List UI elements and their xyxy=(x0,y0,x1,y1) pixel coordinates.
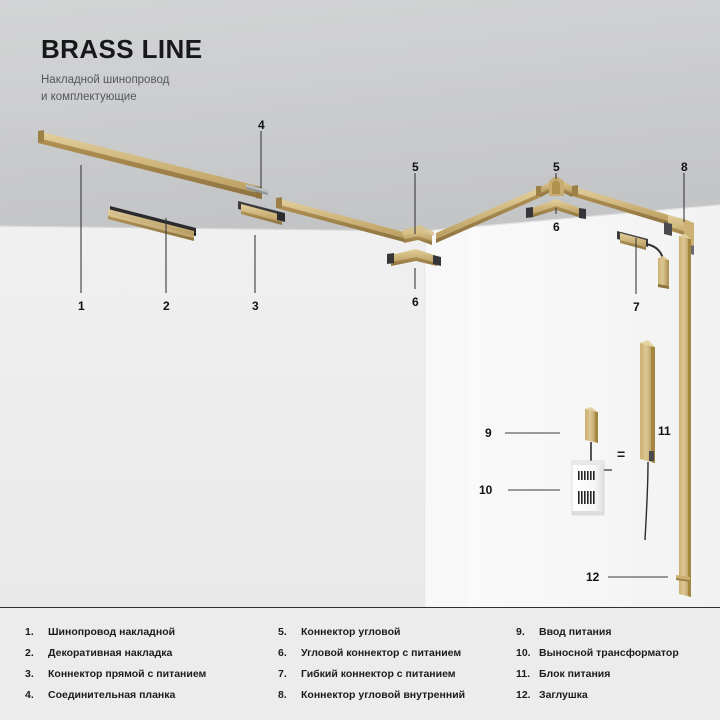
callout-number-1: 1 xyxy=(78,300,85,312)
legend-item-label: Блок питания xyxy=(539,668,716,682)
legend-item-label: Гибкий коннектор с питанием xyxy=(301,668,516,682)
callout-number-2: 2 xyxy=(163,300,170,312)
callout-number-11: 11 xyxy=(658,425,671,437)
legend-item-number: 4. xyxy=(25,689,48,703)
legend-item: 2.Декоративная накладка xyxy=(25,647,275,661)
legend-item-label: Выносной трансформатор xyxy=(539,647,716,661)
equals-symbol: = xyxy=(617,447,625,461)
header-block: BRASS LINE Накладной шинопровод и компле… xyxy=(41,36,202,105)
legend-item-number: 9. xyxy=(516,626,539,640)
legend-column-1: 1.Шинопровод накладной2.Декоративная нак… xyxy=(25,626,275,711)
legend-item-number: 5. xyxy=(278,626,301,640)
callout-number-10: 10 xyxy=(479,484,492,496)
callout-number-12: 12 xyxy=(586,571,599,583)
product-diagram-page: BRASS LINE Накладной шинопровод и компле… xyxy=(0,0,720,720)
legend-item-label: Коннектор угловой внутренний xyxy=(301,689,516,703)
legend-item-label: Угловой коннектор с питанием xyxy=(301,647,516,661)
legend-column-3: 9.Ввод питания10.Выносной трансформатор1… xyxy=(516,626,716,711)
callout-number-9: 9 xyxy=(485,427,492,439)
legend-item-number: 10. xyxy=(516,647,539,661)
legend-item: 1.Шинопровод накладной xyxy=(25,626,275,640)
legend-item: 4.Соединительная планка xyxy=(25,689,275,703)
legend-item: 8.Коннектор угловой внутренний xyxy=(278,689,516,703)
callout-number-5a: 5 xyxy=(412,161,419,173)
legend-item-number: 12. xyxy=(516,689,539,703)
legend-item-label: Шинопровод накладной xyxy=(48,626,275,640)
legend-item: 10.Выносной трансформатор xyxy=(516,647,716,661)
legend-item-label: Заглушка xyxy=(539,689,716,703)
legend-item: 3.Коннектор прямой с питанием xyxy=(25,668,275,682)
page-subtitle: Накладной шинопровод и комплектующие xyxy=(41,72,202,105)
legend-item-number: 3. xyxy=(25,668,48,682)
callout-number-5b: 5 xyxy=(553,161,560,173)
legend-item: 9.Ввод питания xyxy=(516,626,716,640)
legend-item-label: Коннектор угловой xyxy=(301,626,516,640)
track-profile-vertical-wall xyxy=(679,234,691,597)
legend-item-label: Декоративная накладка xyxy=(48,647,275,661)
legend-item: 6.Угловой коннектор с питанием xyxy=(278,647,516,661)
legend-item-number: 11. xyxy=(516,668,539,682)
legend-item-number: 8. xyxy=(278,689,301,703)
legend-panel: 1.Шинопровод накладной2.Декоративная нак… xyxy=(0,607,720,720)
callout-number-6a: 6 xyxy=(412,296,419,308)
legend-column-2: 5.Коннектор угловой6.Угловой коннектор с… xyxy=(278,626,516,711)
callout-number-7: 7 xyxy=(633,301,640,313)
legend-item-number: 2. xyxy=(25,647,48,661)
legend-item: 12.Заглушка xyxy=(516,689,716,703)
callout-number-6b: 6 xyxy=(553,221,560,233)
legend-item-number: 1. xyxy=(25,626,48,640)
legend-item-label: Ввод питания xyxy=(539,626,716,640)
legend-item: 11.Блок питания xyxy=(516,668,716,682)
legend-item-number: 7. xyxy=(278,668,301,682)
legend-item: 7.Гибкий коннектор с питанием xyxy=(278,668,516,682)
callout-number-4: 4 xyxy=(258,119,265,131)
legend-item-label: Соединительная планка xyxy=(48,689,275,703)
legend-item: 5.Коннектор угловой xyxy=(278,626,516,640)
legend-item-label: Коннектор прямой с питанием xyxy=(48,668,275,682)
callout-number-8: 8 xyxy=(681,161,688,173)
callout-number-3: 3 xyxy=(252,300,259,312)
legend-item-number: 6. xyxy=(278,647,301,661)
page-title: BRASS LINE xyxy=(41,36,202,63)
